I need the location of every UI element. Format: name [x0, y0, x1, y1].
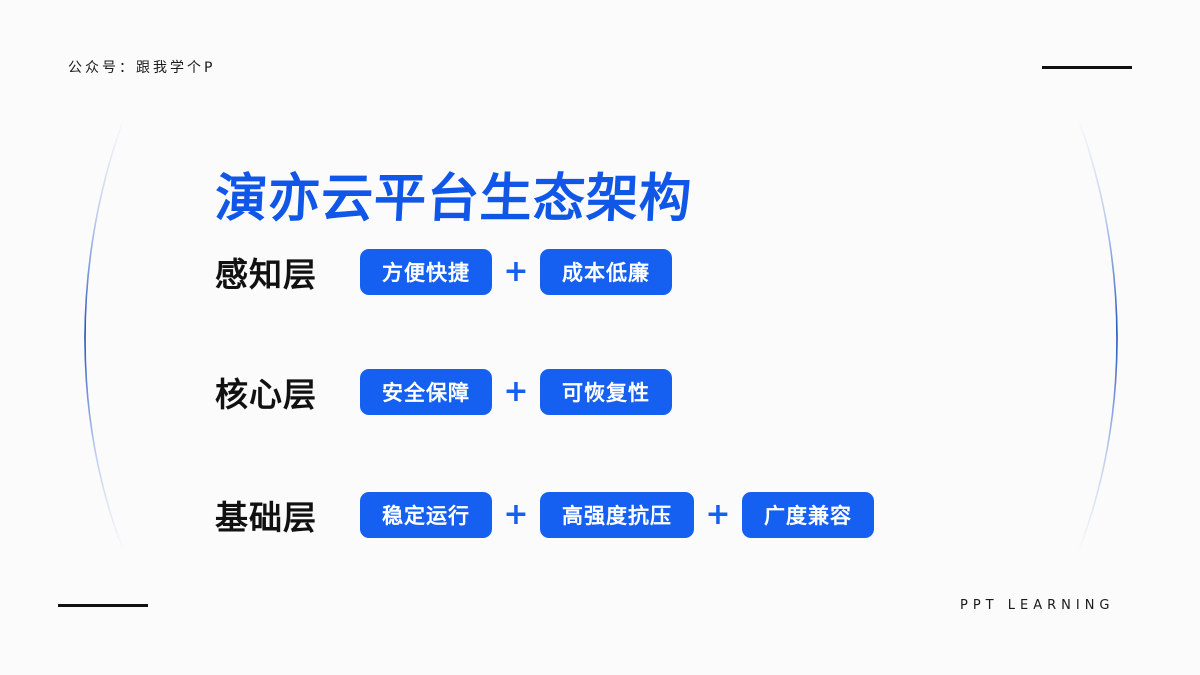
- decorative-arcs: [0, 0, 1200, 675]
- rule-bottom-left: [58, 604, 148, 607]
- plus-icon: +: [492, 377, 540, 407]
- tag-pill[interactable]: 稳定运行: [360, 492, 492, 538]
- slide-canvas: 公众号：跟我学个P 演亦云平台生态架构 感知层 方便快捷 + 成本低廉 核心层 …: [0, 0, 1200, 675]
- tag-pill[interactable]: 安全保障: [360, 369, 492, 415]
- layer-label: 核心层: [215, 368, 360, 416]
- arc-right: [1078, 118, 1117, 552]
- wechat-handle: 公众号：跟我学个P: [68, 57, 215, 77]
- tag-pill[interactable]: 可恢复性: [540, 369, 672, 415]
- rule-top-right: [1042, 66, 1132, 69]
- layer-label: 感知层: [215, 248, 360, 296]
- arc-left: [85, 118, 124, 552]
- plus-icon: +: [694, 500, 742, 530]
- tag-pill[interactable]: 广度兼容: [742, 492, 874, 538]
- tag-pill[interactable]: 成本低廉: [540, 249, 672, 295]
- footer-brand: PPT LEARNING: [960, 598, 1115, 613]
- plus-icon: +: [492, 500, 540, 530]
- layer-row: 核心层 安全保障 + 可恢复性: [215, 369, 672, 415]
- layer-row: 基础层 稳定运行 + 高强度抗压 + 广度兼容: [215, 492, 874, 538]
- plus-icon: +: [492, 257, 540, 287]
- page-title: 演亦云平台生态架构: [213, 168, 693, 230]
- layer-label: 基础层: [215, 491, 360, 539]
- layer-row: 感知层 方便快捷 + 成本低廉: [215, 249, 672, 295]
- tag-pill[interactable]: 高强度抗压: [540, 492, 694, 538]
- tag-pill[interactable]: 方便快捷: [360, 249, 492, 295]
